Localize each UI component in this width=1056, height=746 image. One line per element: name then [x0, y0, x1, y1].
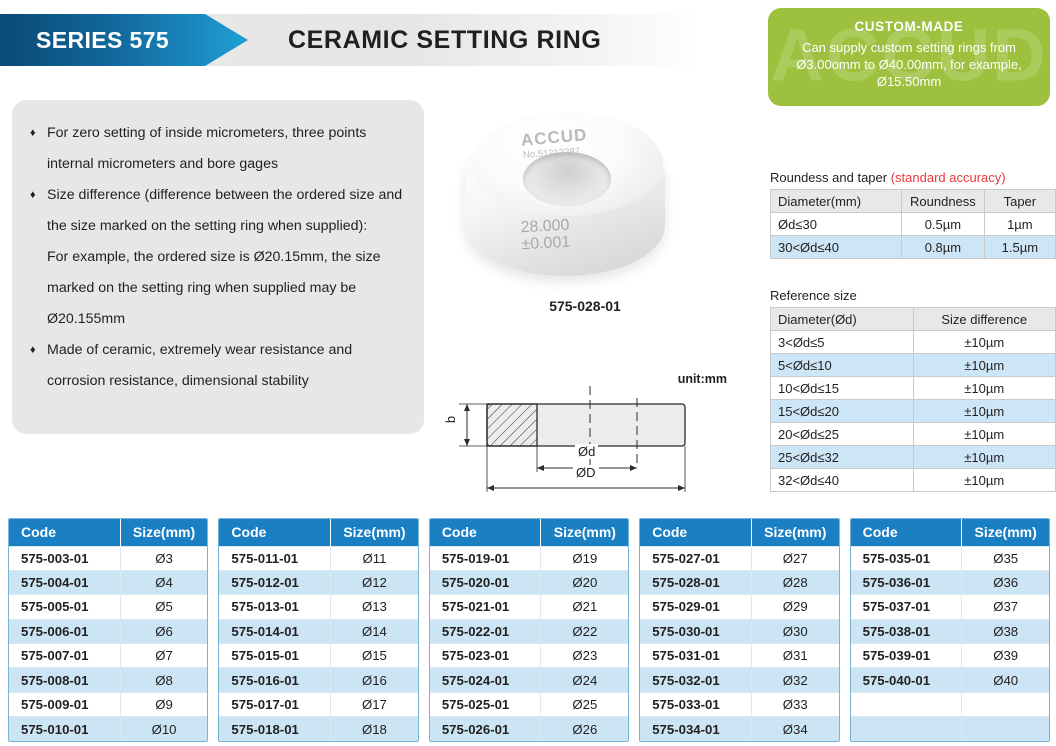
code-tables: CodeSize(mm)575-003-01Ø3575-004-01Ø4575-…	[8, 518, 1050, 742]
code-size-table: CodeSize(mm)575-003-01Ø3575-004-01Ø4575-…	[9, 519, 207, 741]
cell-code: 575-040-01	[851, 668, 962, 692]
table-row: 20<Ød≤25±10µm	[771, 423, 1056, 446]
dimension-label-d: Ød	[575, 444, 598, 459]
table-row[interactable]	[851, 692, 1049, 716]
ceramic-ring-illustration: ACCUD No.51212287 28.000 ±0.001	[465, 112, 685, 292]
cell-size: Ø4	[120, 570, 207, 594]
cell-diameter: 25<Ød≤32	[771, 446, 914, 469]
diamond-bullet-icon: ♦	[30, 180, 47, 242]
table-row[interactable]: 575-022-01Ø22	[430, 619, 628, 643]
table-row[interactable]: 575-030-01Ø30	[640, 619, 838, 643]
feature-panel: ♦ For zero setting of inside micrometers…	[12, 100, 424, 434]
cell-code: 575-008-01	[9, 668, 120, 692]
cell-code: 575-015-01	[219, 644, 330, 668]
column-header-code: Code	[9, 519, 120, 546]
table-row[interactable]: 575-010-01Ø10	[9, 717, 207, 741]
table-header-row: CodeSize(mm)	[219, 519, 417, 546]
feature-item: ♦ Size difference (difference between th…	[30, 180, 408, 242]
cell-code: 575-035-01	[851, 546, 962, 570]
cell-size-difference: ±10µm	[913, 354, 1056, 377]
series-badge: SERIES 575	[0, 14, 248, 66]
table-row[interactable]: 575-007-01Ø7	[9, 644, 207, 668]
code-size-table: CodeSize(mm)575-035-01Ø35575-036-01Ø3657…	[851, 519, 1049, 741]
feature-sub-note: For example, the ordered size is Ø20.15m…	[30, 242, 408, 335]
code-table-group: CodeSize(mm)575-035-01Ø35575-036-01Ø3657…	[850, 518, 1050, 742]
cell-code: 575-033-01	[640, 692, 751, 716]
table-header-row: CodeSize(mm)	[640, 519, 838, 546]
cell-code: 575-024-01	[430, 668, 541, 692]
cell-code: 575-027-01	[640, 546, 751, 570]
cell-diameter: Ød≤30	[771, 213, 902, 236]
roundness-taper-table: Diameter(mm) Roundness Taper Ød≤30 0.5µm…	[770, 189, 1056, 259]
cell-code	[851, 717, 962, 741]
column-header-size: Size(mm)	[962, 519, 1049, 546]
table-row[interactable]: 575-012-01Ø12	[219, 570, 417, 594]
column-header-size: Size(mm)	[120, 519, 207, 546]
table-row[interactable]: 575-038-01Ø38	[851, 619, 1049, 643]
cell-size-difference: ±10µm	[913, 469, 1056, 492]
cell-size: Ø37	[962, 595, 1049, 619]
cell-diameter: 10<Ød≤15	[771, 377, 914, 400]
cell-size: Ø33	[751, 692, 838, 716]
cell-size: Ø35	[962, 546, 1049, 570]
cell-code: 575-023-01	[430, 644, 541, 668]
table-row: 3<Ød≤5±10µm	[771, 331, 1056, 354]
table-row[interactable]: 575-009-01Ø9	[9, 692, 207, 716]
column-header-size: Size(mm)	[331, 519, 418, 546]
code-table-group: CodeSize(mm)575-011-01Ø11575-012-01Ø1257…	[218, 518, 418, 742]
ring-size-engraving: 28.000 ±0.001	[520, 217, 571, 254]
roundness-taper-block: Roundess and taper (standard accuracy) D…	[770, 170, 1056, 259]
cell-size	[962, 717, 1049, 741]
cell-taper: 1.5µm	[984, 236, 1055, 259]
table-row[interactable]: 575-028-01Ø28	[640, 570, 838, 594]
table-row[interactable]: 575-031-01Ø31	[640, 644, 838, 668]
table-row[interactable]	[851, 717, 1049, 741]
table-row[interactable]: 575-025-01Ø25	[430, 692, 628, 716]
cell-size: Ø34	[751, 717, 838, 741]
roundness-taper-title-accent: (standard accuracy)	[891, 170, 1006, 185]
custom-made-title: CUSTOM-MADE	[768, 19, 1050, 34]
cell-size: Ø16	[331, 668, 418, 692]
table-row[interactable]: 575-004-01Ø4	[9, 570, 207, 594]
column-header-code: Code	[640, 519, 751, 546]
cell-code: 575-036-01	[851, 570, 962, 594]
series-label: SERIES 575	[0, 27, 169, 54]
table-row[interactable]: 575-013-01Ø13	[219, 595, 417, 619]
feature-text: Size difference (difference between the …	[47, 180, 408, 242]
table-row[interactable]: 575-023-01Ø23	[430, 644, 628, 668]
cell-diameter: 3<Ød≤5	[771, 331, 914, 354]
cell-size: Ø3	[120, 546, 207, 570]
ring-size-tolerance: ±0.001	[521, 234, 571, 254]
table-row[interactable]: 575-014-01Ø14	[219, 619, 417, 643]
cell-size-difference: ±10µm	[913, 446, 1056, 469]
cell-code: 575-025-01	[430, 692, 541, 716]
table-row[interactable]: 575-016-01Ø16	[219, 668, 417, 692]
code-table-group: CodeSize(mm)575-019-01Ø19575-020-01Ø2057…	[429, 518, 629, 742]
cell-size	[962, 692, 1049, 716]
cell-size: Ø13	[331, 595, 418, 619]
cell-code: 575-020-01	[430, 570, 541, 594]
table-header-row: Diameter(Ød) Size difference	[771, 308, 1056, 331]
cell-code: 575-005-01	[9, 595, 120, 619]
catalog-page: SERIES 575 CERAMIC SETTING RING ACCUD CU…	[0, 0, 1056, 746]
cell-size-difference: ±10µm	[913, 377, 1056, 400]
cell-size: Ø21	[541, 595, 628, 619]
code-table-group: CodeSize(mm)575-027-01Ø27575-028-01Ø2857…	[639, 518, 839, 742]
reference-size-table: Diameter(Ød) Size difference 3<Ød≤5±10µm…	[770, 307, 1056, 492]
cell-size: Ø29	[751, 595, 838, 619]
cell-code: 575-039-01	[851, 644, 962, 668]
feature-text: For zero setting of inside micrometers, …	[47, 118, 408, 180]
cell-code: 575-037-01	[851, 595, 962, 619]
cell-size: Ø36	[962, 570, 1049, 594]
table-row[interactable]: 575-008-01Ø8	[9, 668, 207, 692]
reference-size-body: 3<Ød≤5±10µm5<Ød≤10±10µm10<Ød≤15±10µm15<Ø…	[771, 331, 1056, 492]
cell-size: Ø24	[541, 668, 628, 692]
code-size-table: CodeSize(mm)575-011-01Ø11575-012-01Ø1257…	[219, 519, 417, 741]
code-size-table: CodeSize(mm)575-027-01Ø27575-028-01Ø2857…	[640, 519, 838, 741]
custom-made-callout: ACCUD CUSTOM-MADE Can supply custom sett…	[768, 8, 1050, 106]
cell-code: 575-031-01	[640, 644, 751, 668]
table-header-row: CodeSize(mm)	[851, 519, 1049, 546]
table-row[interactable]: 575-015-01Ø15	[219, 644, 417, 668]
photo-caption: 575-028-01	[445, 298, 725, 314]
cell-diameter: 20<Ød≤25	[771, 423, 914, 446]
cell-diameter: 5<Ød≤10	[771, 354, 914, 377]
table-row[interactable]: 575-040-01Ø40	[851, 668, 1049, 692]
table-row: 5<Ød≤10±10µm	[771, 354, 1056, 377]
unit-label: unit:mm	[678, 372, 727, 386]
cell-code: 575-038-01	[851, 619, 962, 643]
table-row[interactable]: 575-027-01Ø27	[640, 546, 838, 570]
cell-diameter: 15<Ød≤20	[771, 400, 914, 423]
table-header-row: CodeSize(mm)	[430, 519, 628, 546]
table-row[interactable]: 575-017-01Ø17	[219, 692, 417, 716]
diamond-bullet-icon: ♦	[30, 118, 47, 180]
cell-size: Ø38	[962, 619, 1049, 643]
technical-drawing: unit:mm	[445, 372, 745, 497]
diamond-bullet-icon: ♦	[30, 335, 47, 397]
cell-code: 575-010-01	[9, 717, 120, 741]
cell-code: 575-006-01	[9, 619, 120, 643]
cell-size: Ø27	[751, 546, 838, 570]
cell-size: Ø12	[331, 570, 418, 594]
feature-item: ♦ Made of ceramic, extremely wear resist…	[30, 335, 408, 397]
table-row[interactable]: 575-021-01Ø21	[430, 595, 628, 619]
cell-code: 575-032-01	[640, 668, 751, 692]
cell-size: Ø15	[331, 644, 418, 668]
cell-size-difference: ±10µm	[913, 423, 1056, 446]
column-header-code: Code	[851, 519, 962, 546]
page-header: SERIES 575 CERAMIC SETTING RING	[0, 14, 760, 66]
cell-roundness: 0.5µm	[902, 213, 985, 236]
cell-size: Ø9	[120, 692, 207, 716]
cell-code: 575-013-01	[219, 595, 330, 619]
table-row[interactable]: 575-039-01Ø39	[851, 644, 1049, 668]
cell-size: Ø23	[541, 644, 628, 668]
table-row[interactable]: 575-003-01Ø3	[9, 546, 207, 570]
code-table-group: CodeSize(mm)575-003-01Ø3575-004-01Ø4575-…	[8, 518, 208, 742]
roundness-taper-title: Roundess and taper (standard accuracy)	[770, 170, 1056, 185]
table-row: 10<Ød≤15±10µm	[771, 377, 1056, 400]
column-header: Diameter(Ød)	[771, 308, 914, 331]
table-header-row: CodeSize(mm)	[9, 519, 207, 546]
column-header-code: Code	[430, 519, 541, 546]
table-row[interactable]: 575-011-01Ø11	[219, 546, 417, 570]
cell-taper: 1µm	[984, 213, 1055, 236]
custom-made-text: Can supply custom setting rings from Ø3.…	[768, 39, 1050, 90]
reference-size-block: Reference size Diameter(Ød) Size differe…	[770, 288, 1056, 492]
cell-diameter: 32<Ød≤40	[771, 469, 914, 492]
table-row[interactable]: 575-033-01Ø33	[640, 692, 838, 716]
cell-size: Ø28	[751, 570, 838, 594]
cell-size: Ø20	[541, 570, 628, 594]
cell-size: Ø32	[751, 668, 838, 692]
cell-size: Ø22	[541, 619, 628, 643]
feature-item: ♦ For zero setting of inside micrometers…	[30, 118, 408, 180]
cell-code: 575-003-01	[9, 546, 120, 570]
table-row[interactable]: 575-032-01Ø32	[640, 668, 838, 692]
cell-code: 575-014-01	[219, 619, 330, 643]
cell-code: 575-026-01	[430, 717, 541, 741]
table-row[interactable]: 575-034-01Ø34	[640, 717, 838, 741]
cell-size: Ø31	[751, 644, 838, 668]
cell-size: Ø8	[120, 668, 207, 692]
table-row: 32<Ød≤40±10µm	[771, 469, 1056, 492]
table-row[interactable]: 575-029-01Ø29	[640, 595, 838, 619]
cell-size: Ø10	[120, 717, 207, 741]
table-row[interactable]: 575-019-01Ø19	[430, 546, 628, 570]
cell-code: 575-009-01	[9, 692, 120, 716]
cell-size: Ø7	[120, 644, 207, 668]
feature-text: Made of ceramic, extremely wear resistan…	[47, 335, 408, 397]
table-row[interactable]: 575-037-01Ø37	[851, 595, 1049, 619]
table-row[interactable]: 575-036-01Ø36	[851, 570, 1049, 594]
cell-size: Ø17	[331, 692, 418, 716]
product-photo: ACCUD No.51212287 28.000 ±0.001 575-028-…	[445, 112, 745, 312]
table-row[interactable]: 575-018-01Ø18	[219, 717, 417, 741]
column-header: Diameter(mm)	[771, 190, 902, 213]
cell-size: Ø39	[962, 644, 1049, 668]
cell-roundness: 0.8µm	[902, 236, 985, 259]
cell-size: Ø26	[541, 717, 628, 741]
cell-size: Ø11	[331, 546, 418, 570]
table-row[interactable]: 575-035-01Ø35	[851, 546, 1049, 570]
table-row[interactable]: 575-006-01Ø6	[9, 619, 207, 643]
column-header: Size difference	[913, 308, 1056, 331]
cell-code: 575-004-01	[9, 570, 120, 594]
column-header-size: Size(mm)	[751, 519, 838, 546]
cell-code: 575-028-01	[640, 570, 751, 594]
table-row[interactable]: 575-026-01Ø26	[430, 717, 628, 741]
cell-code: 575-016-01	[219, 668, 330, 692]
cell-size: Ø6	[120, 619, 207, 643]
cell-code: 575-030-01	[640, 619, 751, 643]
cell-size: Ø5	[120, 595, 207, 619]
roundness-taper-title-main: Roundess and taper	[770, 170, 891, 185]
cell-size: Ø14	[331, 619, 418, 643]
cell-code: 575-011-01	[219, 546, 330, 570]
cell-size: Ø19	[541, 546, 628, 570]
cell-size-difference: ±10µm	[913, 400, 1056, 423]
cell-size: Ø25	[541, 692, 628, 716]
reference-size-title: Reference size	[770, 288, 1056, 303]
code-size-table: CodeSize(mm)575-019-01Ø19575-020-01Ø2057…	[430, 519, 628, 741]
table-header-row: Diameter(mm) Roundness Taper	[771, 190, 1056, 213]
column-header: Roundness	[902, 190, 985, 213]
cell-size: Ø30	[751, 619, 838, 643]
cell-code: 575-034-01	[640, 717, 751, 741]
table-row[interactable]: 575-005-01Ø5	[9, 595, 207, 619]
ring-bore	[523, 152, 611, 206]
cell-code: 575-022-01	[430, 619, 541, 643]
cell-size: Ø18	[331, 717, 418, 741]
column-header: Taper	[984, 190, 1055, 213]
dimension-label-D: ØD	[573, 465, 599, 480]
table-row: 30<Ød≤40 0.8µm 1.5µm	[771, 236, 1056, 259]
table-row: 15<Ød≤20±10µm	[771, 400, 1056, 423]
cell-code: 575-007-01	[9, 644, 120, 668]
table-row[interactable]: 575-024-01Ø24	[430, 668, 628, 692]
dimension-label-b: b	[443, 416, 458, 423]
table-row: 25<Ød≤32±10µm	[771, 446, 1056, 469]
cell-code: 575-017-01	[219, 692, 330, 716]
cell-code	[851, 692, 962, 716]
page-title: CERAMIC SETTING RING	[288, 14, 601, 66]
cell-code: 575-012-01	[219, 570, 330, 594]
cell-diameter: 30<Ød≤40	[771, 236, 902, 259]
cell-size-difference: ±10µm	[913, 331, 1056, 354]
cell-code: 575-018-01	[219, 717, 330, 741]
cell-code: 575-029-01	[640, 595, 751, 619]
cell-code: 575-019-01	[430, 546, 541, 570]
column-header-code: Code	[219, 519, 330, 546]
table-row: Ød≤30 0.5µm 1µm	[771, 213, 1056, 236]
column-header-size: Size(mm)	[541, 519, 628, 546]
table-row[interactable]: 575-020-01Ø20	[430, 570, 628, 594]
cell-size: Ø40	[962, 668, 1049, 692]
cell-code: 575-021-01	[430, 595, 541, 619]
